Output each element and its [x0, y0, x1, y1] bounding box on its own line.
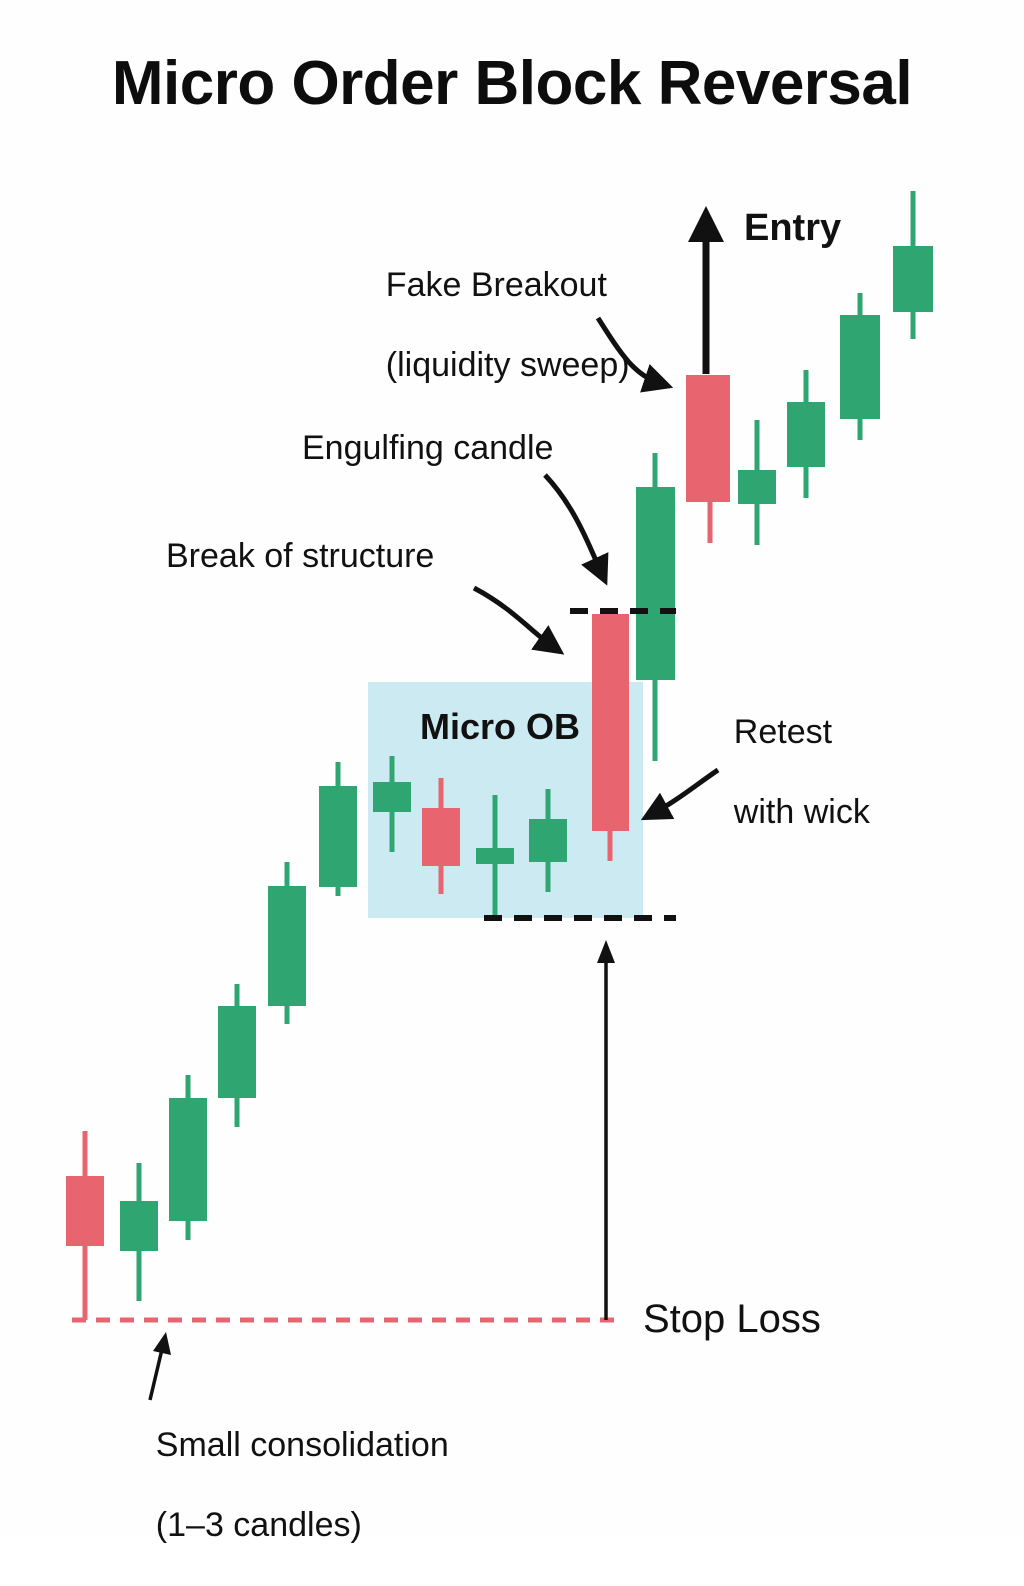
annotation-engulfing-candle: Engulfing candle — [302, 428, 553, 468]
annotation-fake-breakout-line2: (liquidity sweep) — [386, 346, 630, 384]
candle-2 — [120, 1163, 158, 1301]
annotation-micro-ob: Micro OB — [420, 706, 580, 748]
annotation-retest-line1: Retest — [734, 713, 832, 751]
candle-6 — [319, 762, 357, 896]
annotation-entry: Entry — [744, 206, 841, 251]
candle-4 — [218, 984, 256, 1127]
annotation-retest-line2: with wick — [734, 793, 870, 831]
annotation-fake-breakout: Fake Breakout (liquidity sweep) — [348, 225, 630, 426]
annotation-retest-with-wick: Retest with wick — [696, 672, 870, 873]
annotation-stop-loss: Stop Loss — [643, 1296, 821, 1343]
engulfing-arrow — [545, 475, 601, 572]
candle-1 — [66, 1131, 104, 1320]
annotation-small-consolidation: Small consolidation (1–3 candles) — [118, 1385, 449, 1586]
chart-canvas: Micro Order Block Reversal — [0, 0, 1024, 1536]
annotation-fake-breakout-line1: Fake Breakout — [386, 266, 607, 304]
candle-16 — [840, 293, 880, 440]
break-of-structure-arrow — [474, 588, 552, 646]
stop-loss-arrow — [597, 940, 615, 1320]
candle-15 — [787, 370, 825, 498]
candle-13-fake-breakout — [686, 375, 730, 543]
candle-3 — [169, 1075, 207, 1240]
candle-5 — [268, 862, 306, 1024]
annotation-consolidation-line2: (1–3 candles) — [156, 1506, 362, 1544]
annotation-break-of-structure: Break of structure — [166, 536, 434, 576]
candle-14 — [738, 420, 776, 545]
candle-17 — [893, 191, 933, 339]
entry-arrow — [688, 206, 724, 374]
candle-11-break-of-structure — [592, 614, 629, 861]
annotation-consolidation-line1: Small consolidation — [156, 1426, 449, 1464]
